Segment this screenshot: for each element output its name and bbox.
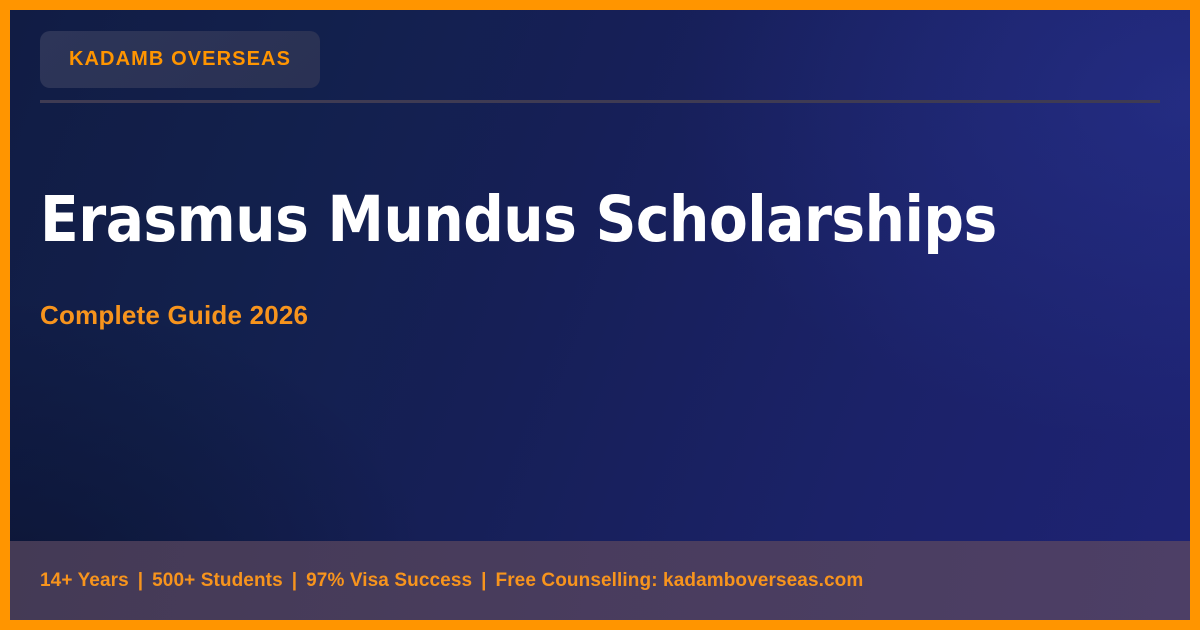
footer-separator: | <box>472 570 495 592</box>
page-title: Erasmus Mundus Scholarships <box>40 188 1150 252</box>
footer-contact-website[interactable]: Free Counselling: kadamboverseas.com <box>495 570 863 592</box>
headline-block: Erasmus Mundus Scholarships Complete Gui… <box>40 188 1150 331</box>
footer-stat-students: 500+ Students <box>152 570 283 592</box>
page-subtitle: Complete Guide 2026 <box>40 252 1150 331</box>
poster-content: KADAMB OVERSEAS Erasmus Mundus Scholarsh… <box>10 10 1190 620</box>
footer-stats-list: 14+ Years | 500+ Students | 97% Visa Suc… <box>10 570 863 592</box>
footer-separator: | <box>129 570 152 592</box>
footer-bar: 14+ Years | 500+ Students | 97% Visa Suc… <box>10 541 1190 620</box>
header-divider <box>40 100 1160 103</box>
footer-separator: | <box>283 570 306 592</box>
footer-stat-visa-success: 97% Visa Success <box>306 570 472 592</box>
poster-card: KADAMB OVERSEAS Erasmus Mundus Scholarsh… <box>0 0 1200 630</box>
footer-stat-years: 14+ Years <box>40 570 129 592</box>
brand-badge[interactable]: KADAMB OVERSEAS <box>40 31 320 88</box>
brand-badge-label: KADAMB OVERSEAS <box>69 48 291 71</box>
